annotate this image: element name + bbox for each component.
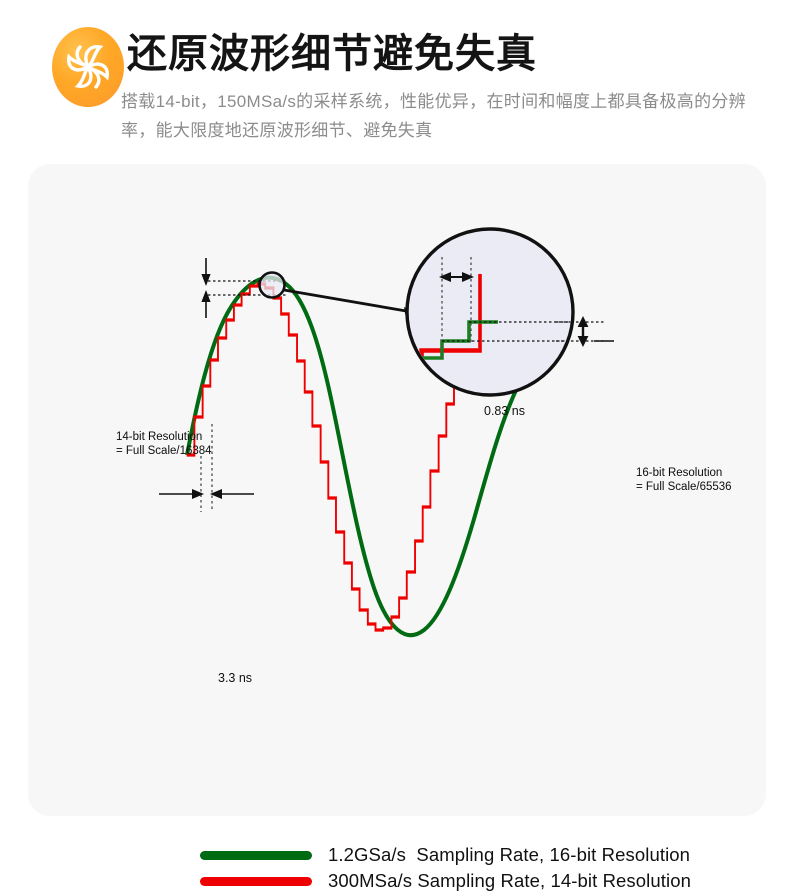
right-resolution-arrow: [578, 316, 589, 347]
left-resolution-line1: 14-bit Resolution: [116, 430, 212, 444]
coarse-sample-interval-label: 3.3 ns: [218, 671, 252, 685]
legend-label-red: 300MSa/s Sampling Rate, 14-bit Resolutio…: [328, 870, 691, 892]
swirl-fan-icon: [52, 27, 124, 107]
magnifier-zoom-circle: [407, 229, 573, 395]
legend-label-green: 1.2GSa/s Sampling Rate, 16-bit Resolutio…: [328, 844, 690, 866]
left-resolution-arrow: [201, 258, 210, 318]
legend-swatch-red: [200, 877, 312, 886]
left-resolution-line2: = Full Scale/16384: [116, 444, 212, 458]
chart-legend: 1.2GSa/s Sampling Rate, 16-bit Resolutio…: [200, 842, 691, 894]
right-resolution-line1: 16-bit Resolution: [636, 466, 732, 480]
legend-item-red: 300MSa/s Sampling Rate, 14-bit Resolutio…: [200, 868, 691, 894]
page-title: 还原波形细节避免失真: [127, 28, 537, 80]
page-subtitle: 搭载14-bit，150MSa/s的采样系统，性能优异，在时间和幅度上都具备极高…: [121, 87, 761, 145]
legend-item-green: 1.2GSa/s Sampling Rate, 16-bit Resolutio…: [200, 842, 691, 868]
left-resolution-annotation: 14-bit Resolution = Full Scale/16384: [116, 430, 212, 458]
page-header: 还原波形细节避免失真 搭载14-bit，150MSa/s的采样系统，性能优异，在…: [0, 0, 790, 150]
fine-sample-interval-label: 0.83 ns: [484, 404, 525, 418]
magnifier-focus-circle: [260, 273, 285, 298]
legend-swatch-green: [200, 851, 312, 860]
coarse-33ns-arrow: [159, 489, 254, 499]
figure-card: 14-bit Resolution = Full Scale/16384 16-…: [28, 164, 766, 816]
right-resolution-line2: = Full Scale/65536: [636, 480, 732, 494]
right-resolution-annotation: 16-bit Resolution = Full Scale/65536: [636, 466, 732, 494]
